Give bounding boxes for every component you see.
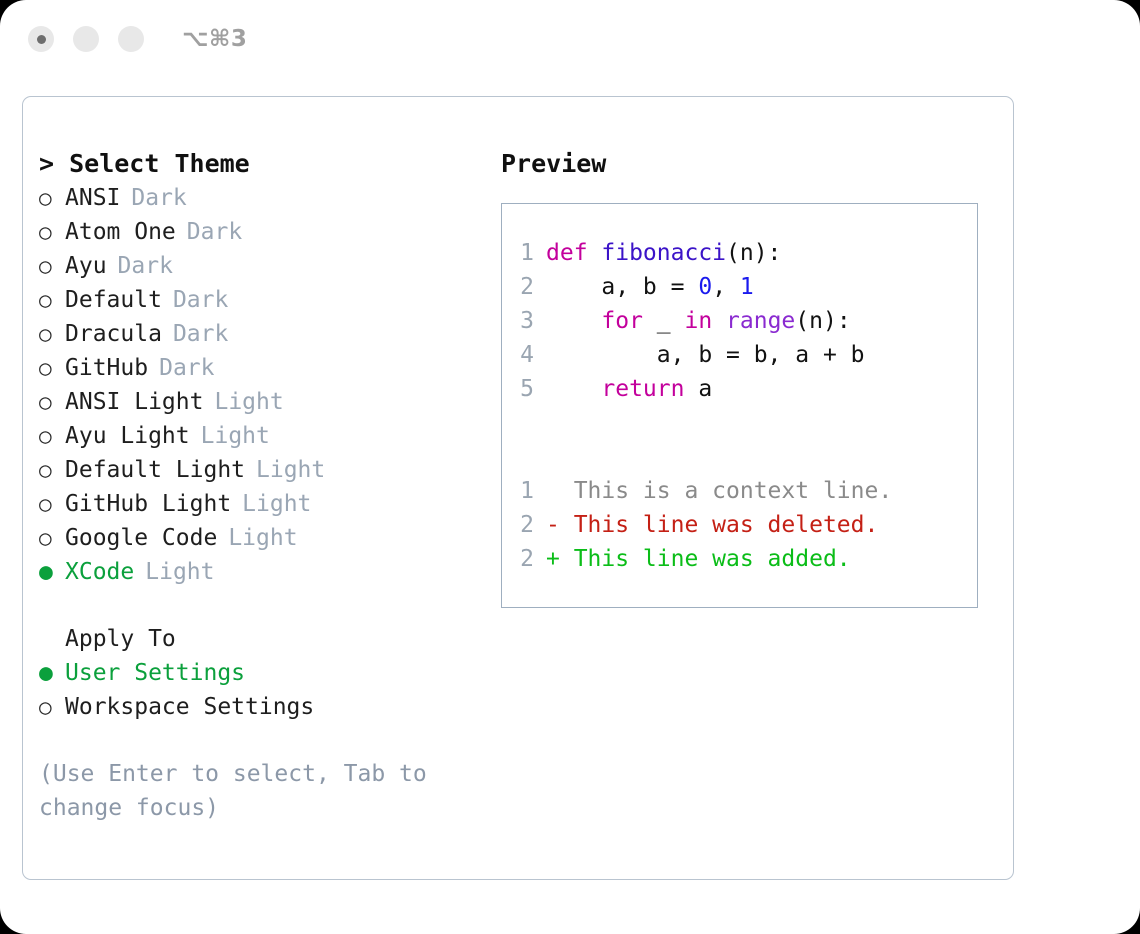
diff-line-added: 2 + This line was added. bbox=[502, 542, 977, 576]
radio-icon: ○ bbox=[39, 521, 65, 555]
window-controls bbox=[28, 26, 144, 52]
theme-variant-tag: Light bbox=[201, 419, 270, 453]
radio-icon: ○ bbox=[39, 487, 65, 521]
code-sample: 1 def fibonacci (n): 2 a, b = 0 , 1 bbox=[502, 236, 977, 406]
preview-spacer bbox=[502, 406, 977, 440]
code-token: 1 bbox=[740, 270, 754, 304]
line-number: 3 bbox=[502, 304, 546, 338]
radio-icon: ○ bbox=[39, 249, 65, 283]
code-token: for bbox=[601, 304, 643, 338]
preview-box: 1 def fibonacci (n): 2 a, b = 0 , 1 bbox=[501, 203, 978, 608]
code-line: 1 def fibonacci (n): bbox=[502, 236, 977, 270]
apply-to-label: User Settings bbox=[65, 656, 245, 690]
traffic-light-active-icon[interactable] bbox=[28, 26, 54, 52]
code-token: def bbox=[546, 236, 601, 270]
apply-to-option-list: ● User Settings ○ Workspace Settings bbox=[39, 656, 509, 724]
theme-variant-tag: Light bbox=[242, 487, 311, 521]
apply-to-heading: Apply To bbox=[39, 622, 509, 656]
code-line: 2 a, b = 0 , 1 bbox=[502, 270, 977, 304]
code-token: a, b = bbox=[546, 270, 698, 304]
theme-variant-tag: Light bbox=[145, 555, 214, 589]
theme-name: Atom One bbox=[65, 215, 176, 249]
code-token: , bbox=[712, 270, 740, 304]
code-token: (n): bbox=[726, 236, 781, 270]
panel-body: > Select Theme ○ ANSI Dark ○ Atom One Da… bbox=[23, 97, 1013, 879]
theme-option-ansi-light[interactable]: ○ ANSI Light Light bbox=[39, 385, 509, 419]
apply-to-workspace-settings[interactable]: ○ Workspace Settings bbox=[39, 690, 509, 724]
theme-name: Google Code bbox=[65, 521, 217, 555]
code-token: 0 bbox=[698, 270, 712, 304]
code-line: 4 a, b = b, a + b bbox=[502, 338, 977, 372]
theme-option-dracula-dark[interactable]: ○ Dracula Dark bbox=[39, 317, 509, 351]
theme-variant-tag: Light bbox=[256, 453, 325, 487]
code-token: range bbox=[726, 304, 795, 338]
radio-icon: ○ bbox=[39, 453, 65, 487]
theme-variant-tag: Dark bbox=[173, 317, 228, 351]
theme-name: ANSI bbox=[65, 181, 120, 215]
code-token: return bbox=[601, 372, 684, 406]
apply-to-user-settings[interactable]: ● User Settings bbox=[39, 656, 509, 690]
preview-heading: Preview bbox=[501, 147, 1001, 181]
theme-option-ayu-light[interactable]: ○ Ayu Light Light bbox=[39, 419, 509, 453]
main-panel: > Select Theme ○ ANSI Dark ○ Atom One Da… bbox=[22, 96, 1014, 880]
theme-option-xcode-light[interactable]: ● XCode Light bbox=[39, 555, 509, 589]
theme-option-default-light[interactable]: ○ Default Light Light bbox=[39, 453, 509, 487]
theme-option-default-dark[interactable]: ○ Default Dark bbox=[39, 283, 509, 317]
apply-to-label: Workspace Settings bbox=[65, 690, 314, 724]
code-token: in bbox=[684, 304, 712, 338]
radio-icon: ○ bbox=[39, 283, 65, 317]
diff-text: + This line was added. bbox=[546, 542, 851, 576]
radio-selected-icon: ● bbox=[39, 656, 65, 690]
preview-spacer bbox=[502, 440, 977, 474]
keyboard-shortcut-label: ⌥⌘3 bbox=[182, 26, 247, 52]
code-token: _ bbox=[643, 304, 685, 338]
diff-text: - This line was deleted. bbox=[546, 508, 878, 542]
theme-option-atom-one-dark[interactable]: ○ Atom One Dark bbox=[39, 215, 509, 249]
code-token: (n): bbox=[795, 304, 850, 338]
traffic-light-third-icon[interactable] bbox=[118, 26, 144, 52]
diff-line-deleted: 2 - This line was deleted. bbox=[502, 508, 977, 542]
line-number: 2 bbox=[502, 508, 546, 542]
theme-name: Default bbox=[65, 283, 162, 317]
preview-column: Preview 1 def fibonacci (n): 2 a, b = bbox=[501, 147, 1001, 608]
theme-name: Ayu bbox=[65, 249, 107, 283]
theme-variant-tag: Dark bbox=[159, 351, 214, 385]
diff-sample: 1 This is a context line. 2 - This line … bbox=[502, 474, 977, 576]
radio-icon: ○ bbox=[39, 215, 65, 249]
line-number: 1 bbox=[502, 474, 546, 508]
code-token: a bbox=[684, 372, 712, 406]
line-number: 4 bbox=[502, 338, 546, 372]
code-token bbox=[546, 304, 601, 338]
theme-variant-tag: Dark bbox=[187, 215, 242, 249]
radio-icon: ○ bbox=[39, 385, 65, 419]
theme-option-github-dark[interactable]: ○ GitHub Dark bbox=[39, 351, 509, 385]
code-token bbox=[546, 372, 601, 406]
theme-option-google-code-light[interactable]: ○ Google Code Light bbox=[39, 521, 509, 555]
app-window: ⌥⌘3 > Select Theme ○ ANSI Dark ○ Atom On… bbox=[0, 0, 1140, 934]
theme-option-ayu-dark[interactable]: ○ Ayu Dark bbox=[39, 249, 509, 283]
radio-icon: ○ bbox=[39, 690, 65, 724]
theme-name: GitHub Light bbox=[65, 487, 231, 521]
theme-name: Default Light bbox=[65, 453, 245, 487]
theme-variant-tag: Light bbox=[214, 385, 283, 419]
theme-option-github-light[interactable]: ○ GitHub Light Light bbox=[39, 487, 509, 521]
radio-icon: ○ bbox=[39, 351, 65, 385]
code-line: 5 return a bbox=[502, 372, 977, 406]
line-number: 2 bbox=[502, 270, 546, 304]
theme-name: ANSI Light bbox=[65, 385, 203, 419]
radio-icon: ○ bbox=[39, 181, 65, 215]
diff-line-context: 1 This is a context line. bbox=[502, 474, 977, 508]
theme-option-list: ○ ANSI Dark ○ Atom One Dark ○ Ayu Dark bbox=[39, 181, 509, 589]
radio-selected-icon: ● bbox=[39, 555, 65, 589]
code-token bbox=[712, 304, 726, 338]
theme-option-ansi-dark[interactable]: ○ ANSI Dark bbox=[39, 181, 509, 215]
diff-text: This is a context line. bbox=[546, 474, 892, 508]
theme-variant-tag: Dark bbox=[173, 283, 228, 317]
line-number: 5 bbox=[502, 372, 546, 406]
code-line: 3 for _ in range (n): bbox=[502, 304, 977, 338]
active-dot-core-icon bbox=[37, 35, 46, 44]
theme-selection-column: > Select Theme ○ ANSI Dark ○ Atom One Da… bbox=[39, 147, 509, 825]
line-number: 1 bbox=[502, 236, 546, 270]
theme-name: GitHub bbox=[65, 351, 148, 385]
theme-variant-tag: Dark bbox=[118, 249, 173, 283]
code-token: fibonacci bbox=[601, 236, 726, 270]
theme-variant-tag: Dark bbox=[131, 181, 186, 215]
theme-name: Ayu Light bbox=[65, 419, 190, 453]
theme-name: Dracula bbox=[65, 317, 162, 351]
code-token: a, b = b, a + b bbox=[546, 338, 865, 372]
traffic-light-second-icon[interactable] bbox=[73, 26, 99, 52]
keyboard-hint-text: (Use Enter to select, Tab to change focu… bbox=[39, 757, 454, 825]
theme-variant-tag: Light bbox=[228, 521, 297, 555]
line-number: 2 bbox=[502, 542, 546, 576]
window-titlebar: ⌥⌘3 bbox=[0, 0, 1140, 78]
radio-icon: ○ bbox=[39, 419, 65, 453]
theme-name: XCode bbox=[65, 555, 134, 589]
select-theme-heading: > Select Theme bbox=[39, 147, 509, 181]
radio-icon: ○ bbox=[39, 317, 65, 351]
